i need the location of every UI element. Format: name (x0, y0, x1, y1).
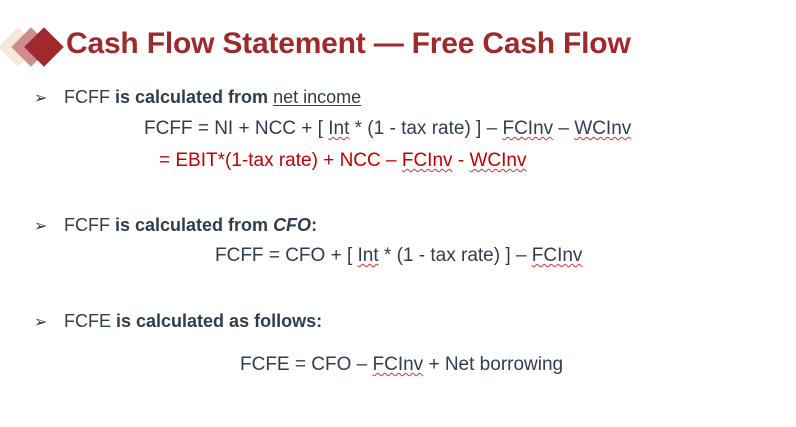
formula-1-seg-1: FCFF = NI + NCC + [ (144, 118, 328, 139)
bullet-3-lead: FCFE (64, 311, 116, 331)
formula-1-seg-2-int: Int (328, 118, 349, 139)
formula-1-seg-4-fcinv: FCInv (502, 118, 553, 139)
formula-4-seg-1: FCFE = CFO – (240, 354, 373, 375)
formula-3-seg-4-fcinv: FCInv (532, 245, 583, 266)
formula-fcff-ebit: = EBIT*(1-tax rate) + NCC – FCInv - WCIn… (159, 149, 526, 172)
page-title: Cash Flow Statement — Free Cash Flow (66, 16, 631, 72)
bullet-3-emphasis: is calculated as follows: (116, 311, 322, 331)
formula-3-seg-1: FCFF = CFO + [ (215, 245, 358, 266)
bullet-arrow-icon: ➢ (34, 88, 64, 110)
slide-canvas: { "slide": { "title": "Cash Flow Stateme… (0, 0, 796, 427)
formula-1-seg-5: – (553, 118, 574, 139)
bullet-2-target: CFO (273, 215, 311, 235)
formula-fcff-cfo: FCFF = CFO + [ Int * (1 - tax rate) ] – … (215, 244, 582, 267)
formula-2-seg-3: - (453, 150, 470, 171)
formula-2-seg-2-fcinv: FCInv (402, 150, 453, 171)
bullet-fcfe: ➢FCFE is calculated as follows: (34, 310, 322, 334)
formula-fcfe: FCFE = CFO – FCInv + Net borrowing (240, 353, 563, 376)
bullet-fcff-net-income: ➢FCFF is calculated from net income (34, 86, 361, 110)
three-diamonds-logo-icon (4, 22, 64, 72)
bullet-1-target: net income (273, 87, 361, 107)
formula-2-seg-1: = EBIT*(1-tax rate) + NCC – (159, 150, 402, 171)
bullet-1-emphasis: is calculated from (115, 87, 273, 107)
formula-2-seg-4-wcinv: WCInv (469, 150, 526, 171)
bullet-1-lead: FCFF (64, 87, 115, 107)
formula-1-seg-3: * (1 - tax rate) ] – (349, 118, 502, 139)
formula-3-seg-2-int: Int (358, 245, 379, 266)
formula-1-seg-6-wcinv: WCInv (574, 118, 631, 139)
formula-fcff-ni: FCFF = NI + NCC + [ Int * (1 - tax rate)… (144, 117, 631, 140)
formula-4-seg-3: + Net borrowing (423, 354, 563, 375)
bullet-arrow-icon: ➢ (34, 312, 64, 334)
slide-header: Cash Flow Statement — Free Cash Flow (0, 16, 796, 76)
bullet-2-lead: FCFF (64, 215, 115, 235)
bullet-2-trailing: : (311, 215, 317, 235)
formula-3-seg-3: * (1 - tax rate) ] – (379, 245, 532, 266)
bullet-2-emphasis: is calculated from (115, 215, 273, 235)
formula-4-seg-2-fcinv: FCInv (373, 354, 424, 375)
bullet-arrow-icon: ➢ (34, 216, 64, 238)
bullet-fcff-cfo: ➢FCFF is calculated from CFO: (34, 214, 317, 238)
